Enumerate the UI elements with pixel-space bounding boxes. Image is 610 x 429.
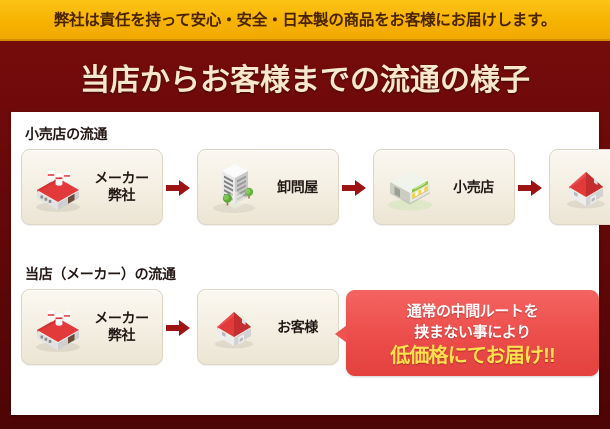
arrow-right-icon: [165, 318, 191, 338]
top-banner: 弊社は責任を持って安心・安全・日本製の商品をお客様にお届けします。: [0, 0, 610, 41]
node-wholesaler: 卸問屋: [197, 149, 339, 225]
node-label: 小売店: [439, 179, 514, 196]
banner-text: 弊社は責任を持って安心・安全・日本製の商品をお客様にお届けします。: [0, 8, 610, 30]
node-maker-direct: メーカー 弊社: [21, 289, 163, 365]
storefront-icon: [381, 158, 439, 216]
factory-icon: [29, 298, 87, 356]
house-icon: [205, 298, 263, 356]
node-label: メーカー 弊社: [87, 170, 162, 203]
section-label-retail: 小売店の流通: [25, 124, 107, 144]
office-building-icon: [205, 158, 263, 216]
node-maker: メーカー 弊社: [21, 149, 163, 225]
arrow-right-icon: [165, 178, 191, 198]
callout-line-1: 通常の中間ルートを: [407, 303, 538, 320]
callout-highlight: 低価格にてお届け!!: [346, 344, 599, 368]
price-callout-balloon: 通常の中間ルートを 挟まない事により 低価格にてお届け!!: [346, 290, 599, 376]
node-customer-direct: お客様: [197, 289, 339, 365]
callout-text: 通常の中間ルートを 挟まない事により 低価格にてお届け!!: [346, 301, 599, 368]
factory-icon: [29, 158, 87, 216]
node-label: お客様: [263, 319, 338, 336]
page-title: 当店からお客様までの流通の様子: [0, 55, 610, 99]
arrow-right-icon: [341, 178, 367, 198]
node-customer: お客様: [549, 149, 610, 225]
section-label-direct: 当店（メーカー）の流通: [25, 264, 176, 284]
node-label: メーカー 弊社: [87, 310, 162, 343]
house-icon: [557, 158, 610, 216]
distribution-flow-infographic: 弊社は責任を持って安心・安全・日本製の商品をお客様にお届けします。 当店からお客…: [0, 0, 610, 429]
arrow-right-icon: [517, 178, 543, 198]
content-panel: 小売店の流通: [11, 112, 599, 415]
callout-line-2: 挟まない事により: [414, 324, 531, 341]
node-retail-store: 小売店: [373, 149, 515, 225]
node-label: 卸問屋: [263, 179, 338, 196]
title-band: 当店からお客様までの流通の様子: [0, 41, 610, 112]
